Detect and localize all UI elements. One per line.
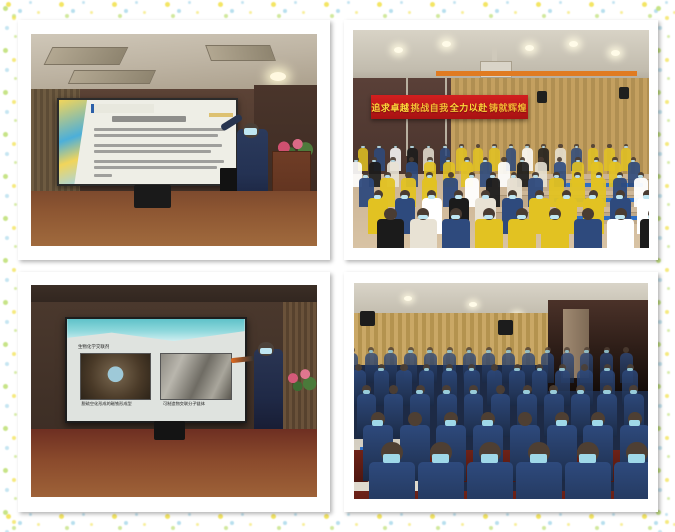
border-dot (648, 14, 652, 18)
border-dot (5, 488, 9, 492)
border-dot (14, 77, 17, 80)
border-dot (29, 513, 32, 516)
border-dot (542, 526, 546, 530)
face-mask (627, 368, 633, 371)
photo-image-top-right: 追求卓越 挑战自我 全力以赴 铸就辉煌 (353, 30, 649, 248)
border-dot (667, 161, 670, 164)
banner-text-1: 追求卓越 (371, 101, 409, 114)
border-dot (665, 478, 669, 482)
border-dot (3, 48, 8, 53)
border-dot (29, 1, 32, 4)
ceiling-light (404, 296, 412, 301)
border-dot (6, 514, 11, 519)
face-mask (363, 390, 370, 394)
face-mask (592, 420, 603, 426)
border-dot (667, 119, 670, 122)
border-dot (3, 132, 8, 137)
border-dot (642, 2, 647, 7)
border-dot (3, 510, 8, 515)
border-dot (548, 521, 552, 525)
worker-member (369, 462, 416, 499)
border-dot (430, 514, 435, 519)
border-dot (71, 521, 75, 525)
border-dot (656, 6, 661, 11)
face-mask (451, 215, 460, 220)
border-dot (177, 521, 181, 525)
border-dot (188, 513, 191, 516)
border-dot (3, 300, 8, 305)
border-dot (542, 14, 546, 18)
border-dot (37, 523, 40, 526)
worker-head (496, 385, 505, 394)
photo-card-bottom-left[interactable]: 生物化学交联剂 脱硫空化形成的磁铁形成型 可制造物交联分子链体 (18, 272, 330, 512)
border-dot (196, 523, 199, 526)
border-dot (436, 14, 440, 18)
worker-member (614, 462, 648, 499)
border-dot (18, 521, 22, 525)
border-dot (12, 58, 16, 62)
border-dot (355, 11, 358, 14)
audience-member (508, 219, 536, 248)
border-dot (589, 2, 594, 7)
face-mask (603, 390, 610, 394)
stage-monitor-speaker (134, 185, 171, 208)
flower-arrangement (280, 366, 317, 394)
border-dot (12, 184, 16, 188)
face-mask (424, 368, 430, 371)
border-dot (65, 526, 69, 530)
audience-head (538, 157, 543, 162)
audience-member (607, 219, 635, 248)
audience-head (384, 208, 396, 220)
border-dot (665, 16, 669, 20)
border-dot (5, 236, 9, 240)
worker-member (418, 462, 465, 499)
border-dot (302, 523, 305, 526)
face-mask (514, 368, 520, 371)
face-mask (455, 195, 462, 199)
face-mask (520, 160, 524, 162)
red-banner: 追求卓越 挑战自我 全力以赴 铸就辉煌 (371, 95, 528, 119)
border-dot (5, 404, 9, 408)
border-dot (14, 497, 17, 500)
border-dot (667, 329, 670, 332)
border-dot (665, 520, 669, 524)
border-dot (14, 371, 17, 374)
ceiling-light (611, 50, 620, 56)
projection-screen: 生物化学交联剂 脱硫空化形成的磁铁形成型 可制造物交联分子链体 (65, 317, 246, 423)
border-dot (595, 526, 599, 530)
border-dot (536, 514, 541, 519)
face-mask (244, 128, 257, 135)
border-dot (71, 9, 75, 13)
border-dot (37, 11, 40, 14)
border-dot (377, 514, 382, 519)
border-dot (658, 320, 662, 324)
face-mask (589, 195, 596, 199)
worker-head (491, 364, 498, 371)
border-dot (5, 446, 9, 450)
border-dot (143, 523, 146, 526)
border-dot (665, 226, 669, 230)
slide-image-caption-right: 可制造物交联分子链体 (163, 401, 205, 407)
face-mask (460, 146, 464, 148)
slide-text-line (94, 144, 222, 147)
face-mask (509, 146, 513, 148)
border-dot (330, 526, 334, 530)
border-dot (665, 513, 668, 516)
border-dot (665, 100, 669, 104)
border-dot (14, 203, 17, 206)
border-dot (595, 14, 599, 18)
face-mask (629, 420, 640, 426)
border-dot (12, 394, 16, 398)
border-dot (658, 362, 662, 366)
face-mask (563, 195, 570, 199)
border-dot (506, 513, 509, 516)
face-mask (537, 368, 543, 371)
border-dot (124, 521, 128, 525)
border-dot (495, 521, 499, 525)
border-dot (489, 14, 493, 18)
border-dot (665, 268, 669, 272)
border-dot (665, 394, 669, 398)
face-mask (604, 368, 610, 371)
border-dot (330, 14, 334, 18)
border-dot (612, 1, 615, 4)
border-dot (112, 2, 117, 7)
audience-head (501, 157, 506, 162)
border-dot (14, 287, 17, 290)
face-mask (533, 175, 538, 178)
audience-crowd (353, 139, 649, 231)
border-dot (12, 16, 16, 20)
face-mask (470, 390, 477, 394)
face-mask (628, 454, 645, 463)
face-mask (579, 454, 596, 463)
slide-sample-photo-left (80, 353, 151, 400)
face-mask (630, 390, 637, 394)
border-dot (389, 521, 393, 525)
audience-member (410, 219, 438, 248)
face-mask (410, 146, 414, 148)
face-mask (418, 215, 427, 220)
face-mask (523, 390, 530, 394)
border-dot (400, 1, 403, 4)
audience-head (607, 144, 612, 149)
audience-member (377, 219, 405, 248)
border-dot (453, 1, 456, 4)
border-dot (14, 161, 17, 164)
face-mask (486, 350, 491, 353)
face-mask (427, 350, 432, 353)
slide-heading-bar (112, 116, 186, 122)
border-dot (559, 1, 562, 4)
border-dot (400, 513, 403, 516)
face-mask (517, 215, 526, 220)
border-dot (283, 521, 287, 525)
border-dot (12, 142, 16, 146)
face-mask (624, 146, 628, 148)
face-mask (554, 175, 559, 178)
face-mask (354, 160, 358, 162)
border-dot (241, 513, 244, 516)
border-dot (658, 26, 662, 30)
face-mask (443, 390, 450, 394)
face-mask (427, 175, 432, 178)
border-dot (667, 77, 670, 80)
audience-head (558, 144, 563, 149)
ceiling-light (442, 41, 451, 47)
face-mask (447, 350, 452, 353)
face-mask (492, 146, 496, 148)
face-mask (643, 195, 649, 199)
face-mask (596, 175, 601, 178)
border-dot (665, 184, 669, 188)
border-dot (667, 371, 670, 374)
border-dot (249, 11, 252, 14)
slide-sample-photo-right (160, 353, 233, 400)
border-dot (612, 513, 615, 516)
border-dot (665, 310, 669, 314)
border-dot (5, 110, 9, 114)
border-dot (442, 9, 446, 13)
ceiling-vent (44, 47, 129, 65)
border-dot (665, 58, 669, 62)
border-dot (654, 9, 658, 13)
border-dot (5, 26, 9, 30)
border-dot (620, 523, 623, 526)
face-mask (428, 195, 435, 199)
border-dot (377, 2, 382, 7)
border-dot (324, 514, 329, 519)
border-dot (667, 287, 670, 290)
face-mask (443, 146, 447, 148)
border-dot (302, 11, 305, 14)
border-dot (12, 268, 16, 272)
banner-text-2: 挑战自我 (411, 101, 449, 114)
border-dot (3, 342, 8, 347)
border-dot (12, 14, 16, 18)
border-dot (90, 11, 93, 14)
border-dot (230, 9, 234, 13)
photo-card-top-right[interactable]: 追求卓越 挑战自我 全力以赴 铸就辉煌 (344, 20, 658, 260)
face-mask (616, 195, 623, 199)
audience-member (640, 219, 649, 248)
border-dot (5, 320, 9, 324)
face-mask (613, 160, 617, 162)
border-dot (567, 11, 570, 14)
border-dot (294, 1, 297, 4)
border-dot (218, 2, 223, 7)
face-mask (408, 350, 413, 353)
face-mask (484, 215, 493, 220)
face-mask (594, 160, 598, 162)
stage-floor (31, 191, 317, 246)
orange-ceiling-beam (436, 71, 637, 76)
border-dot (171, 14, 175, 18)
photo-image-bottom-right (354, 283, 648, 499)
border-dot (658, 110, 662, 114)
border-dot (12, 520, 16, 524)
audience-crowd (354, 343, 648, 499)
border-dot (514, 523, 517, 526)
border-dot (667, 245, 670, 248)
border-dot (82, 513, 85, 516)
border-dot (336, 9, 340, 13)
audience-head (582, 208, 594, 220)
border-dot (495, 9, 499, 13)
border-dot (5, 152, 9, 156)
face-mask (481, 454, 498, 463)
border-dot (230, 521, 234, 525)
face-mask (361, 146, 365, 148)
face-mask (374, 195, 381, 199)
border-dot (408, 11, 411, 14)
face-mask (378, 368, 384, 371)
border-dot (12, 100, 16, 104)
face-mask (648, 215, 649, 220)
audience-member (574, 219, 602, 248)
slide-text-line (94, 174, 112, 177)
border-dot (667, 35, 670, 38)
slide-image-caption-left: 脱硫空化形成的磁铁形成型 (81, 401, 131, 407)
border-dot (12, 352, 16, 356)
slide-text-line (94, 128, 225, 131)
face-mask (482, 420, 493, 426)
slide-text-line (94, 134, 218, 137)
border-dot (65, 14, 69, 18)
worker-head (400, 364, 407, 371)
border-dot (658, 236, 662, 240)
border-dot (548, 9, 552, 13)
border-dot (5, 194, 9, 198)
border-dot (14, 119, 17, 122)
border-dot (271, 514, 276, 519)
border-dot (355, 523, 358, 526)
border-dot (14, 245, 17, 248)
border-dot (642, 514, 647, 519)
border-dot (389, 9, 393, 13)
face-mask (550, 215, 559, 220)
face-mask (260, 348, 273, 354)
slide-text-line (94, 160, 223, 163)
wall-speaker (619, 87, 629, 99)
border-dot (14, 455, 17, 458)
ceiling-light (270, 72, 286, 81)
border-dot (483, 2, 488, 7)
face-mask (530, 454, 547, 463)
border-dot (294, 513, 297, 516)
slide-text-line (94, 166, 216, 169)
border-dot (218, 514, 223, 519)
border-dot (5, 362, 9, 366)
border-dot (589, 514, 594, 519)
border-dot (483, 514, 488, 519)
border-dot (143, 11, 146, 14)
border-dot (3, 426, 8, 431)
border-dot (383, 526, 387, 530)
border-dot (18, 9, 22, 13)
worker-member (467, 462, 514, 499)
face-mask (446, 368, 452, 371)
border-dot (536, 2, 541, 7)
audience-member (541, 219, 569, 248)
face-mask (445, 420, 456, 426)
border-dot (3, 174, 8, 179)
border-dot (436, 526, 440, 530)
decorative-dot-border-bottom (0, 510, 675, 532)
border-dot (196, 11, 199, 14)
stage-monitor-speaker (154, 421, 185, 440)
face-mask (465, 160, 469, 162)
face-mask (416, 390, 423, 394)
border-dot (347, 513, 350, 516)
face-mask (432, 454, 449, 463)
face-mask (545, 350, 550, 353)
face-mask (446, 160, 450, 162)
border-dot (3, 258, 8, 263)
border-dot (601, 521, 605, 525)
border-dot (14, 329, 17, 332)
border-dot (514, 11, 517, 14)
face-mask (631, 160, 635, 162)
face-mask (604, 350, 609, 353)
wall-speaker (498, 320, 513, 335)
border-dot (658, 488, 662, 492)
border-dot (241, 1, 244, 4)
border-dot (224, 14, 228, 18)
border-dot (559, 513, 562, 516)
face-mask (483, 160, 487, 162)
border-dot (82, 1, 85, 4)
border-dot (658, 278, 662, 282)
face-mask (575, 175, 580, 178)
border-dot (620, 11, 623, 14)
photo-card-top-left[interactable] (18, 20, 330, 260)
border-dot (658, 152, 662, 156)
border-dot (442, 521, 446, 525)
border-dot (658, 194, 662, 198)
face-mask (388, 350, 393, 353)
border-dot (171, 526, 175, 530)
border-dot (430, 2, 435, 7)
border-dot (6, 2, 11, 7)
border-dot (408, 523, 411, 526)
face-mask (617, 175, 622, 178)
border-dot (3, 384, 8, 389)
border-dot (601, 9, 605, 13)
photo-card-bottom-right[interactable] (344, 272, 658, 512)
face-mask (525, 350, 530, 353)
face-mask (506, 350, 511, 353)
slide-ribbon-graphic (59, 100, 87, 185)
ceiling-light (569, 41, 578, 47)
banner-text-3: 全力以赴 (450, 101, 488, 114)
face-mask (391, 160, 395, 162)
collage-page: 追求卓越 挑战自我 全力以赴 铸就辉煌 (0, 0, 675, 532)
slide-corner-tag (209, 113, 232, 117)
face-mask (428, 160, 432, 162)
worker-head (518, 412, 532, 426)
photo-image-bottom-left: 生物化学交联剂 脱硫空化形成的磁铁形成型 可制造物交联分子链体 (31, 285, 317, 497)
border-dot (3, 216, 8, 221)
border-dot (12, 526, 16, 530)
face-mask (383, 454, 400, 463)
border-dot (12, 310, 16, 314)
border-dot (59, 2, 64, 7)
face-mask (615, 215, 624, 220)
